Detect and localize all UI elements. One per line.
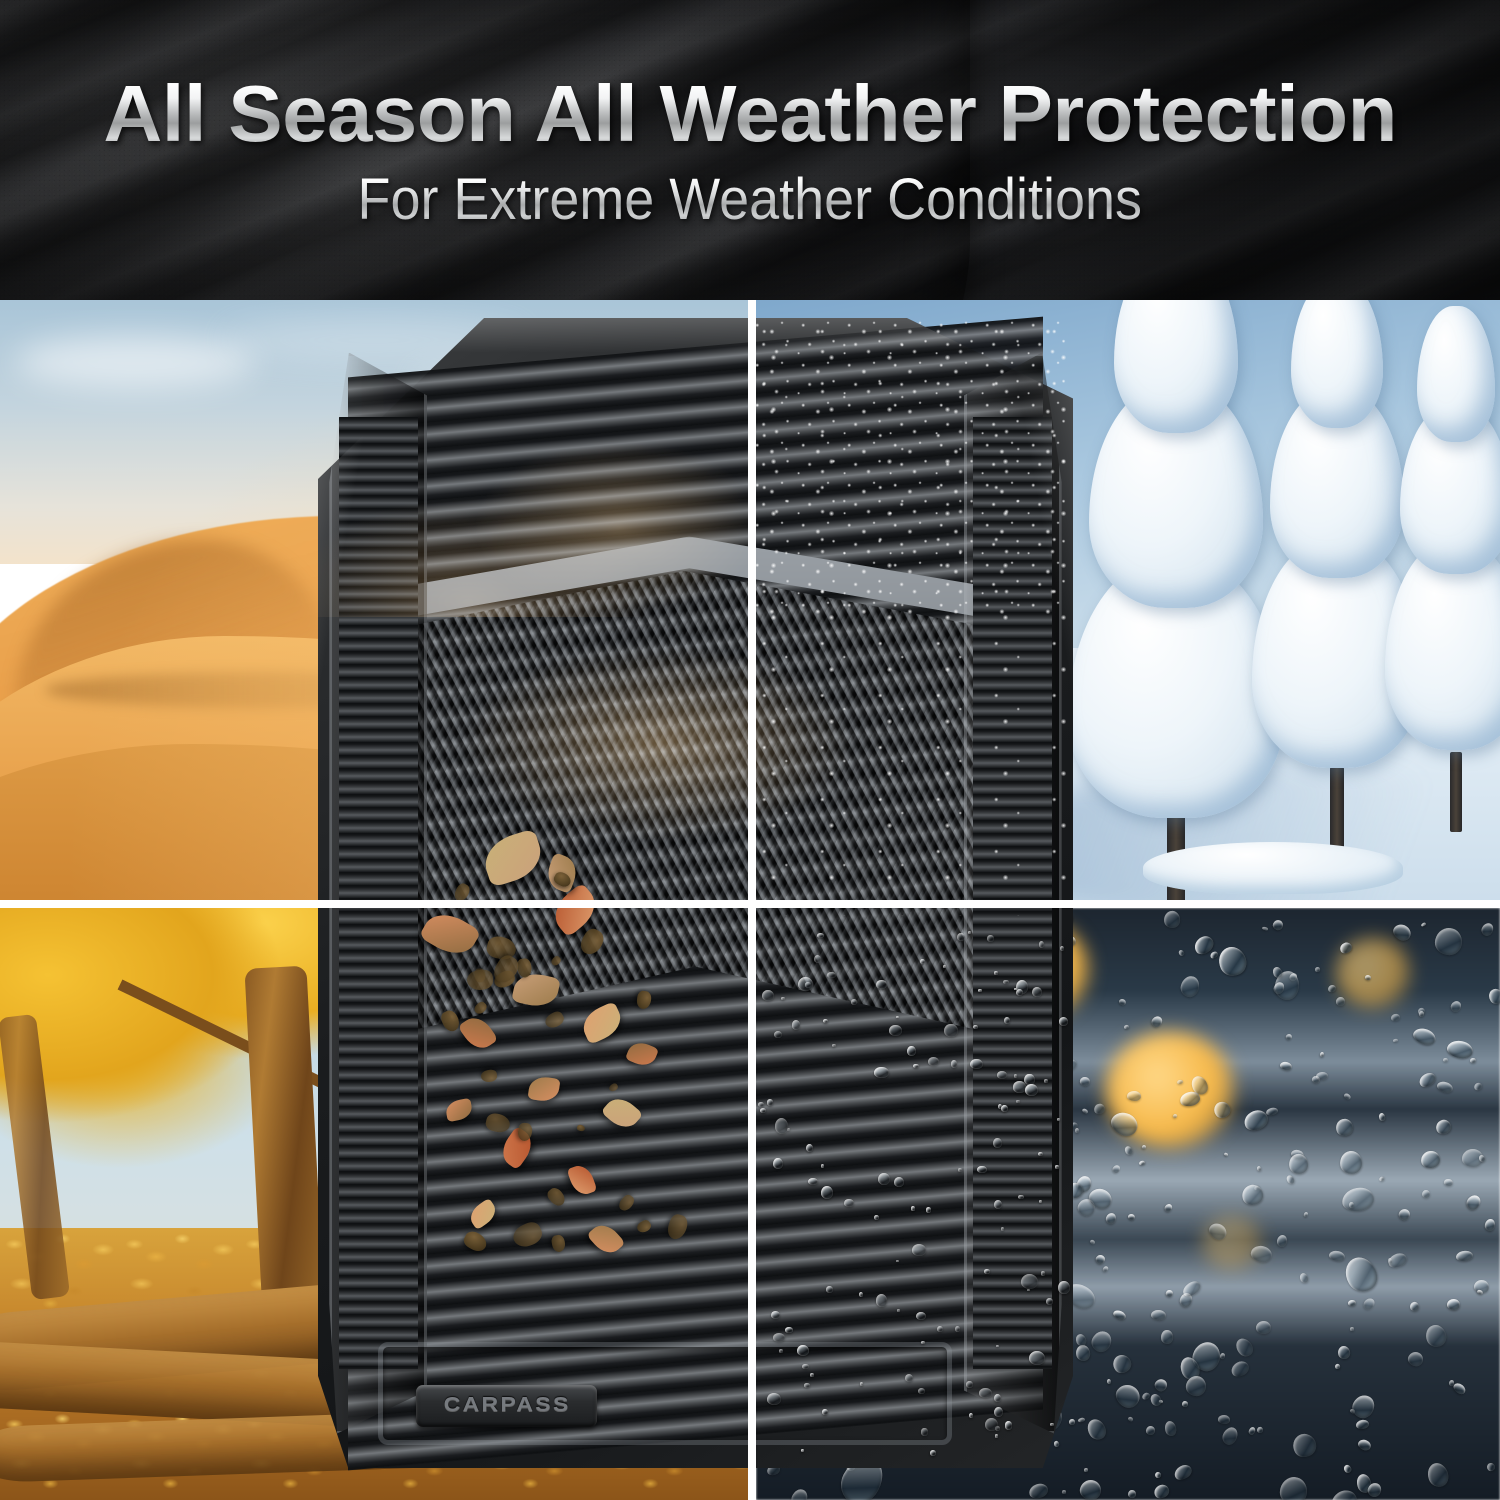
water-droplet bbox=[1018, 1382, 1025, 1388]
water-droplet bbox=[1068, 1419, 1075, 1425]
water-droplet bbox=[1182, 1401, 1188, 1407]
water-droplet bbox=[1176, 1079, 1182, 1084]
headline-title: All Season All Weather Protection bbox=[103, 68, 1397, 160]
snow-mound bbox=[816, 832, 986, 876]
water-droplet bbox=[1422, 1190, 1430, 1198]
snow-tree bbox=[1381, 334, 1500, 804]
water-droplet bbox=[767, 1249, 772, 1253]
product-marketing-banner: All Season All Weather Protection For Ex… bbox=[0, 0, 1500, 1500]
water-droplet bbox=[1336, 996, 1346, 1005]
water-droplet bbox=[1443, 1058, 1448, 1062]
quadrant-desert bbox=[0, 300, 748, 900]
water-droplet bbox=[813, 1408, 831, 1422]
snow-tree bbox=[905, 422, 1065, 852]
grid-divider-horizontal bbox=[0, 900, 1500, 908]
water-droplet bbox=[1084, 1468, 1089, 1472]
water-droplet bbox=[862, 1046, 867, 1050]
water-droplet bbox=[1388, 1257, 1393, 1263]
water-droplet bbox=[1348, 1202, 1353, 1208]
water-droplet bbox=[1160, 1330, 1173, 1344]
headline-subtitle: For Extreme Weather Conditions bbox=[358, 166, 1142, 233]
water-droplet bbox=[1443, 1178, 1453, 1186]
snow-mound bbox=[1143, 842, 1403, 894]
quadrant-snow bbox=[756, 300, 1500, 900]
snow-tree bbox=[801, 518, 891, 768]
water-droplet bbox=[1470, 1057, 1476, 1063]
water-droplet bbox=[980, 1346, 990, 1352]
quadrant-rain bbox=[756, 908, 1500, 1500]
autumn-canopy bbox=[0, 908, 748, 1240]
water-droplet bbox=[829, 1019, 843, 1036]
header-banner: All Season All Weather Protection For Ex… bbox=[0, 0, 1500, 300]
water-droplet bbox=[1349, 1327, 1354, 1331]
quadrant-autumn bbox=[0, 908, 748, 1500]
sand-haze bbox=[0, 300, 748, 900]
water-droplet bbox=[1315, 1071, 1328, 1080]
water-droplet bbox=[834, 1167, 841, 1176]
water-droplet bbox=[766, 1140, 775, 1146]
season-quadrant-grid bbox=[0, 300, 1500, 1500]
